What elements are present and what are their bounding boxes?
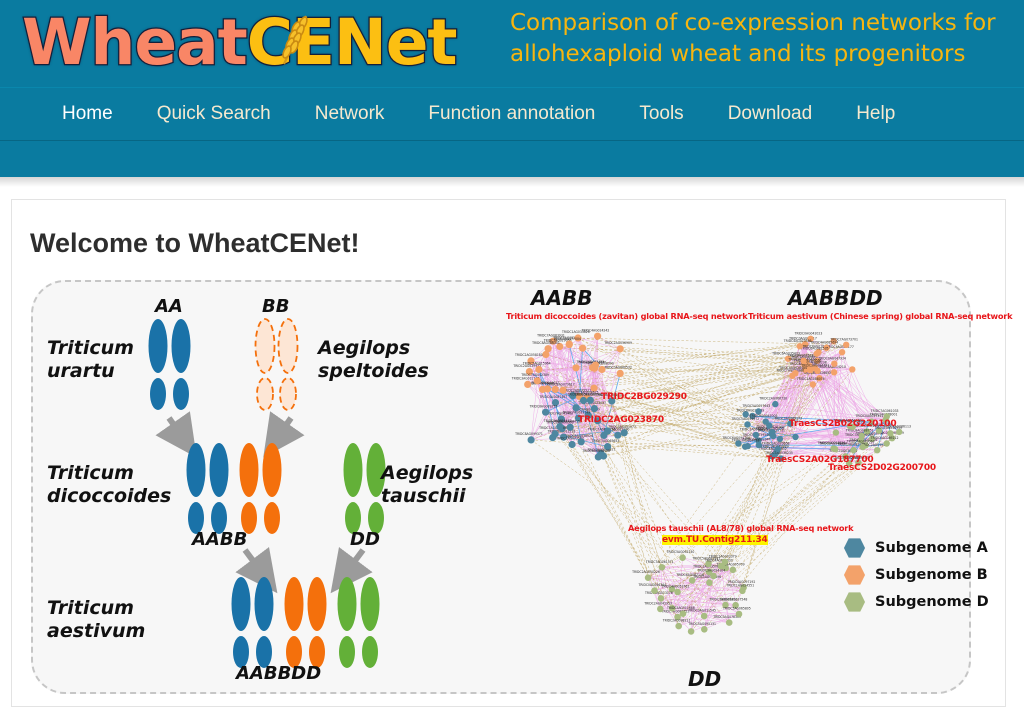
- arrow-aa-to-aabb: [169, 418, 183, 438]
- legend-row-subgenome-a: Subgenome A: [843, 534, 989, 561]
- legend-label-subgenome-a: Subgenome A: [875, 540, 988, 556]
- nav-item-function-annotation[interactable]: Function annotation: [406, 103, 617, 125]
- svg-text:TRIDC0AG060522: TRIDC0AG060522: [603, 366, 632, 370]
- svg-text:TRIDC8AG098128: TRIDC8AG098128: [581, 449, 610, 453]
- nav-link-quick-search[interactable]: Quick Search: [135, 103, 293, 125]
- content-area: Welcome to WheatCENet!: [0, 191, 1024, 715]
- nav-item-network[interactable]: Network: [293, 103, 407, 125]
- coexpression-network-graphic: TRIDC7AG083931TRIDC4AG024242TRIDC5AG0305…: [473, 282, 973, 696]
- nav-link-help[interactable]: Help: [834, 103, 917, 125]
- chromosomes-aabb-b: [240, 443, 282, 534]
- polyploidization-diagram: AA BB AABB DD AABBDD Triticum urartu Aeg…: [33, 282, 483, 696]
- svg-text:TRIDC5AG057643: TRIDC5AG057643: [742, 404, 771, 408]
- nav-link-network[interactable]: Network: [293, 103, 407, 125]
- svg-text:TRIDC6AG013176: TRIDC6AG013176: [644, 591, 673, 595]
- subgenome-legend: Subgenome A Subgenome B Subgenome D: [843, 534, 989, 615]
- svg-text:TRIDC2AG098211: TRIDC2AG098211: [662, 619, 691, 623]
- nav-link-download[interactable]: Download: [706, 103, 835, 125]
- svg-text:TRIDC1AG045351: TRIDC1AG045351: [709, 597, 738, 601]
- svg-text:TRIDC2AG042953: TRIDC2AG042953: [643, 601, 672, 605]
- svg-text:TRIDC5AG015964: TRIDC5AG015964: [522, 362, 551, 366]
- svg-text:TRIDC8AG083333: TRIDC8AG083333: [567, 393, 596, 397]
- svg-text:TRIDC8AG086351: TRIDC8AG086351: [531, 341, 560, 345]
- tagline-line-2: allohexaploid wheat and its progenitors: [510, 39, 1015, 70]
- network-title-aabbdd: AABBDD: [788, 286, 883, 310]
- svg-text:TRIDC3AG041494: TRIDC3AG041494: [818, 442, 847, 446]
- network-subtitle-aabbdd: Triticum aestivum (Chinese spring) globa…: [748, 311, 1012, 321]
- network-title-aabb: AABB: [531, 286, 592, 310]
- nav-link-home[interactable]: Home: [40, 103, 135, 125]
- svg-text:TRIDC3AG095566: TRIDC3AG095566: [793, 359, 822, 363]
- logo-text-cenet: CENet: [247, 6, 457, 79]
- hexagon-icon-subgenome-a: [843, 536, 866, 560]
- gene-label-traescs2b02g220100: TraesCS2B02G220100: [789, 419, 896, 429]
- chromosomes-bb: [256, 319, 298, 410]
- genome-label-bb: BB: [262, 296, 289, 317]
- network-subtitle-dd: Aegilops tauschii (AL8/78) global RNA-se…: [628, 523, 853, 533]
- svg-text:TRIDC2AG056909: TRIDC2AG056909: [603, 341, 632, 345]
- species-triticum-dicoccoides: Triticum dicoccoides: [47, 462, 171, 508]
- svg-text:TRIDC0AG047924: TRIDC0AG047924: [817, 356, 846, 360]
- svg-text:TRIDC5AG028484: TRIDC5AG028484: [778, 366, 807, 370]
- svg-text:TRIDC7AG061033: TRIDC7AG061033: [870, 409, 899, 413]
- svg-text:TRIDC5AG092130: TRIDC5AG092130: [666, 550, 695, 554]
- svg-text:TRIDC4AG023586: TRIDC4AG023586: [783, 339, 812, 343]
- svg-text:TRIDC5AG011688: TRIDC5AG011688: [666, 606, 695, 610]
- site-logo[interactable]: WheatCENet: [22, 0, 457, 87]
- svg-text:TRIDC7AG065653: TRIDC7AG065653: [591, 439, 620, 443]
- svg-text:TRIDC0AG047005: TRIDC0AG047005: [749, 414, 778, 418]
- svg-text:TRIDC4AG049063: TRIDC4AG049063: [846, 440, 875, 444]
- svg-text:TRIDC1AG070658: TRIDC1AG070658: [761, 442, 790, 446]
- svg-text:TRIDC1AG024551: TRIDC1AG024551: [725, 583, 754, 587]
- welcome-panel: Welcome to WheatCENet!: [11, 199, 1006, 707]
- genome-label-aa: AA: [155, 296, 183, 317]
- nav-sub-band: [0, 140, 1024, 177]
- network-subtitle-aabb: Triticum dicoccoides (zavitan) global RN…: [506, 311, 748, 321]
- legend-label-subgenome-b: Subgenome B: [875, 567, 988, 583]
- nav-item-quick-search[interactable]: Quick Search: [135, 103, 293, 125]
- svg-text:TRIDC8AG075135: TRIDC8AG075135: [787, 353, 816, 357]
- chromosomes-aabbdd-d: [338, 577, 380, 668]
- svg-text:TRIDC7AG061571: TRIDC7AG061571: [645, 560, 674, 564]
- header-shadow: [0, 177, 1024, 187]
- svg-text:TRIDC5AG065805: TRIDC5AG065805: [722, 607, 751, 611]
- svg-text:TRIDC8AG089253: TRIDC8AG089253: [529, 404, 558, 408]
- main-navigation: Home Quick Search Network Function annot…: [0, 87, 1024, 140]
- svg-text:TRIDC6AG087118: TRIDC6AG087118: [675, 573, 704, 577]
- nav-item-home[interactable]: Home: [40, 103, 135, 125]
- species-triticum-urartu: Triticum urartu: [47, 337, 134, 383]
- nav-link-tools[interactable]: Tools: [617, 103, 705, 125]
- svg-text:TRIDC3AG051077: TRIDC3AG051077: [607, 425, 636, 429]
- svg-text:TRIDC5AG095131: TRIDC5AG095131: [687, 622, 716, 626]
- chromosomes-aa: [149, 319, 191, 410]
- hexagon-icon-subgenome-d: [843, 590, 866, 614]
- svg-text:TRIDC0AG077004: TRIDC0AG077004: [552, 337, 581, 341]
- nav-list: Home Quick Search Network Function annot…: [0, 88, 1024, 140]
- site-header: WheatCENet Comparison of co-expression n…: [0, 0, 1024, 87]
- svg-text:TRIDC7AG033749: TRIDC7AG033749: [562, 410, 591, 414]
- chromosomes-aabbdd-a: [232, 577, 274, 668]
- genome-label-dd: DD: [350, 529, 380, 550]
- svg-text:TRIDC1AG082159: TRIDC1AG082159: [576, 360, 605, 364]
- site-tagline: Comparison of co-expression networks for…: [510, 8, 1015, 70]
- species-aegilops-tauschii: Aegilops tauschii: [381, 462, 473, 508]
- svg-text:TRIDC4AG018630: TRIDC4AG018630: [704, 559, 733, 563]
- page-title: Welcome to WheatCENet!: [30, 228, 360, 259]
- svg-text:TRIDC8AG099371: TRIDC8AG099371: [514, 432, 543, 436]
- svg-text:TRIDC2AG058180: TRIDC2AG058180: [514, 353, 543, 357]
- svg-text:TRIDC7AG042389: TRIDC7AG042389: [520, 373, 549, 377]
- genome-label-aabbdd: AABBDD: [236, 663, 321, 684]
- nav-link-function-annotation[interactable]: Function annotation: [406, 103, 617, 125]
- gene-label-evm-tu-contig211-34: evm.TU.Contig211.34: [662, 535, 768, 545]
- network-title-dd: DD: [688, 667, 721, 691]
- svg-text:TRIDC4AG087407: TRIDC4AG087407: [539, 395, 568, 399]
- chromosomes-dd: [344, 443, 386, 534]
- species-triticum-aestivum: Triticum aestivum: [47, 597, 145, 643]
- chromosomes-aabb-a: [187, 443, 229, 534]
- overview-figure: AA BB AABB DD AABBDD Triticum urartu Aeg…: [31, 280, 971, 694]
- svg-text:TRIDC4AG085694: TRIDC4AG085694: [810, 340, 839, 344]
- svg-text:TRIDC6AG082535: TRIDC6AG082535: [800, 346, 829, 350]
- svg-text:TRIDC5AG038524: TRIDC5AG038524: [564, 434, 593, 438]
- legend-label-subgenome-d: Subgenome D: [875, 594, 989, 610]
- legend-row-subgenome-b: Subgenome B: [843, 561, 989, 588]
- tagline-line-1: Comparison of co-expression networks for: [510, 8, 1015, 39]
- svg-text:TRIDC2AG050226: TRIDC2AG050226: [631, 570, 660, 574]
- svg-text:TRIDC0AG027311: TRIDC0AG027311: [855, 414, 884, 418]
- arrow-dd-to-aabbdd: [345, 550, 363, 574]
- logo-text-wheat: Wheat: [22, 6, 247, 79]
- legend-row-subgenome-d: Subgenome D: [843, 588, 989, 615]
- hexagon-icon-subgenome-b: [843, 563, 866, 587]
- arrow-aabb-to-aabbdd: [245, 550, 263, 574]
- svg-text:TRIDC2AG066730: TRIDC2AG066730: [758, 397, 787, 401]
- network-comparison-figure: TRIDC7AG083931TRIDC4AG024242TRIDC5AG0305…: [473, 282, 973, 696]
- species-aegilops-speltoides: Aegilops speltoides: [318, 337, 429, 383]
- svg-text:TRIDC0AG042023: TRIDC0AG042023: [794, 331, 823, 335]
- svg-text:TRIDC1AG033379: TRIDC1AG033379: [708, 554, 737, 558]
- svg-text:TRIDC7AG094449: TRIDC7AG094449: [844, 433, 873, 437]
- svg-text:TRIDC0AG046364: TRIDC0AG046364: [638, 583, 667, 587]
- chromosomes-aabbdd-b: [285, 577, 327, 668]
- svg-text:TRIDC8AG088751: TRIDC8AG088751: [845, 429, 874, 433]
- nav-item-tools[interactable]: Tools: [617, 103, 705, 125]
- nav-item-help[interactable]: Help: [834, 103, 917, 125]
- svg-text:TRIDC1AG033626: TRIDC1AG033626: [561, 330, 590, 334]
- gene-label-tridc2bg029290: TRIDC2BG029290: [601, 392, 687, 402]
- genome-label-aabb: AABB: [192, 529, 247, 550]
- gene-label-tridc2ag023870: TRIDC2AG023870: [578, 415, 664, 425]
- gene-label-traescs2d02g200700: TraesCS2D02G200700: [828, 463, 936, 473]
- svg-text:TRIDC1AG088074: TRIDC1AG088074: [796, 377, 825, 381]
- arrow-bb-to-aabb: [277, 418, 291, 438]
- nav-item-download[interactable]: Download: [706, 103, 835, 125]
- page-root: WheatCENet Comparison of co-expression n…: [0, 0, 1024, 715]
